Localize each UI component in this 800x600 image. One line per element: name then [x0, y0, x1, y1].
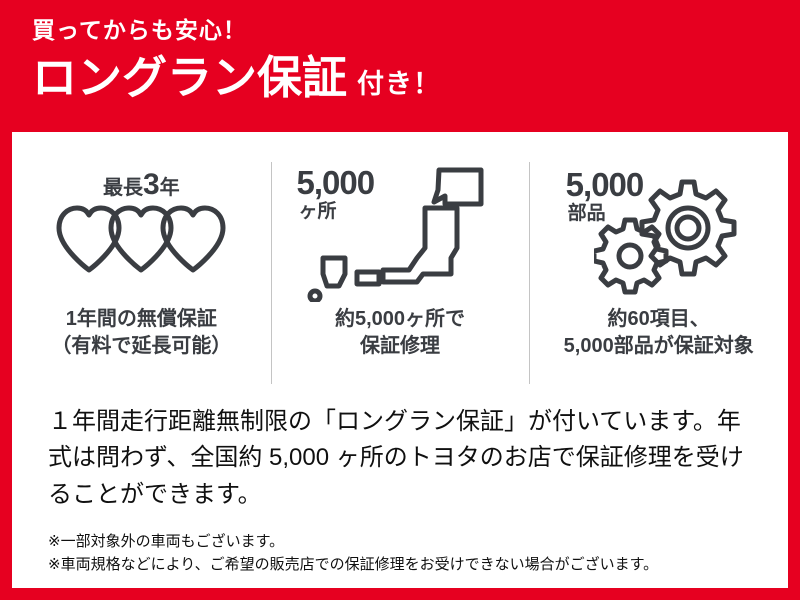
feature-icon-area: 5,000 部品: [529, 158, 788, 306]
feature-caption-line1: 1年間の無償保証: [51, 306, 231, 333]
max-period-badge: 最長3年: [36, 168, 246, 202]
footnote-line-1: ※一部対象外の車両もございます。: [48, 530, 778, 553]
feature-column-covered-parts: 5,000 部品: [529, 158, 788, 386]
body-paragraph: １年間走行距離無制限の「ロングラン保証」が付いています。年式は問わず、全国約 5…: [48, 404, 764, 513]
feature-columns: 最長3年 1年間の無償保証 （有料で延長可能）: [12, 158, 788, 386]
max-period-prefix: 最長: [103, 177, 143, 199]
feature-caption-line1: 約5,000ヶ所で: [335, 306, 465, 333]
warranty-banner: 買ってからも安心！ ロングラン保証 付き！ 最長3年: [0, 0, 800, 600]
header-headline: ロングラン保証 付き！: [32, 55, 800, 100]
max-period-suffix: 年: [160, 177, 180, 199]
feature-caption-line2: 5,000部品が保証対象: [564, 333, 754, 360]
locations-count: 5,000: [297, 166, 375, 199]
parts-unit: 部品: [568, 204, 606, 223]
header-headline-suffix: 付き！: [357, 71, 441, 98]
footnotes: ※一部対象外の車両もございます。 ※車両規格などにより、ご希望の販売店での保証修…: [48, 530, 778, 577]
feature-caption: 1年間の無償保証 （有料で延長可能）: [51, 306, 231, 360]
feature-column-service-locations: 5,000 ヶ所: [271, 158, 530, 386]
parts-count: 5,000: [566, 168, 644, 201]
header-sub-headline: 買ってからも安心！: [32, 18, 800, 43]
max-period-number: 3: [143, 168, 160, 201]
feature-caption: 約5,000ヶ所で 保証修理: [335, 306, 465, 360]
locations-unit: ヶ所: [299, 202, 337, 221]
header-headline-main: ロングラン保証: [32, 55, 347, 100]
three-hearts-icon: [53, 202, 229, 274]
content-card: 最長3年 1年間の無償保証 （有料で延長可能）: [12, 132, 788, 588]
feature-caption-line2: 保証修理: [335, 333, 465, 360]
feature-caption-line2: （有料で延長可能）: [51, 333, 231, 360]
feature-caption-line1: 約60項目、: [564, 306, 754, 333]
banner-header: 買ってからも安心！ ロングラン保証 付き！: [0, 0, 800, 132]
footnote-line-2: ※車両規格などにより、ご希望の販売店での保証修理をお受けできない場合がございます…: [48, 553, 778, 576]
feature-column-warranty-period: 最長3年 1年間の無償保証 （有料で延長可能）: [12, 158, 271, 386]
feature-caption: 約60項目、 5,000部品が保証対象: [564, 306, 754, 360]
feature-icon-area: 5,000 ヶ所: [271, 158, 530, 306]
feature-icon-area: 最長3年: [12, 158, 271, 306]
